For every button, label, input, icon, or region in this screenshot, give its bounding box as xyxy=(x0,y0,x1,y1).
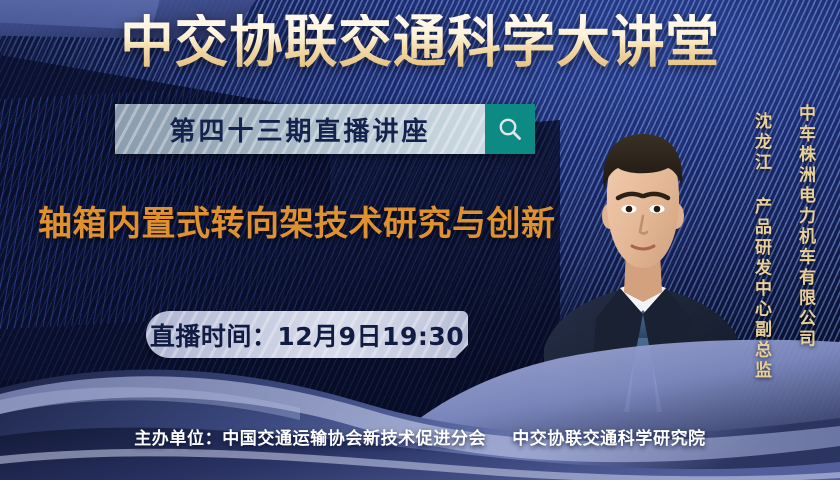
livestream-poster: 中交协联交通科学大讲堂 第四十三期直播讲座 轴箱内置式转向架技术研究与创新 直播… xyxy=(0,0,840,480)
footer-org-1: 中国交通运输协会新技术促进分会 xyxy=(222,429,486,449)
livestream-time-label: 直播时间：12月9日19:30 xyxy=(150,317,464,353)
session-label: 第四十三期直播讲座 xyxy=(169,111,430,148)
session-label-field: 第四十三期直播讲座 xyxy=(115,104,485,154)
livestream-time-badge: 直播时间：12月9日19:30 xyxy=(146,311,468,358)
footer-prefix: 主办单位： xyxy=(134,429,222,449)
footer-organizers: 主办单位：中国交通运输协会新技术促进分会中交协联交通科学研究院 xyxy=(0,424,840,449)
footer-org-2: 中交协联交通科学研究院 xyxy=(512,429,706,449)
speaker-name-title: 沈龙江 产品研发中心副总监 xyxy=(749,112,774,382)
session-search-bar[interactable]: 第四十三期直播讲座 xyxy=(115,104,535,154)
search-button[interactable] xyxy=(485,104,535,154)
page-title: 中交协联交通科学大讲堂 xyxy=(25,14,815,71)
lecture-title: 轴箱内置式转向架技术研究与创新 xyxy=(38,196,556,245)
speaker-company: 中车株洲电力机车有限公司 xyxy=(793,104,818,350)
search-icon xyxy=(497,116,523,142)
